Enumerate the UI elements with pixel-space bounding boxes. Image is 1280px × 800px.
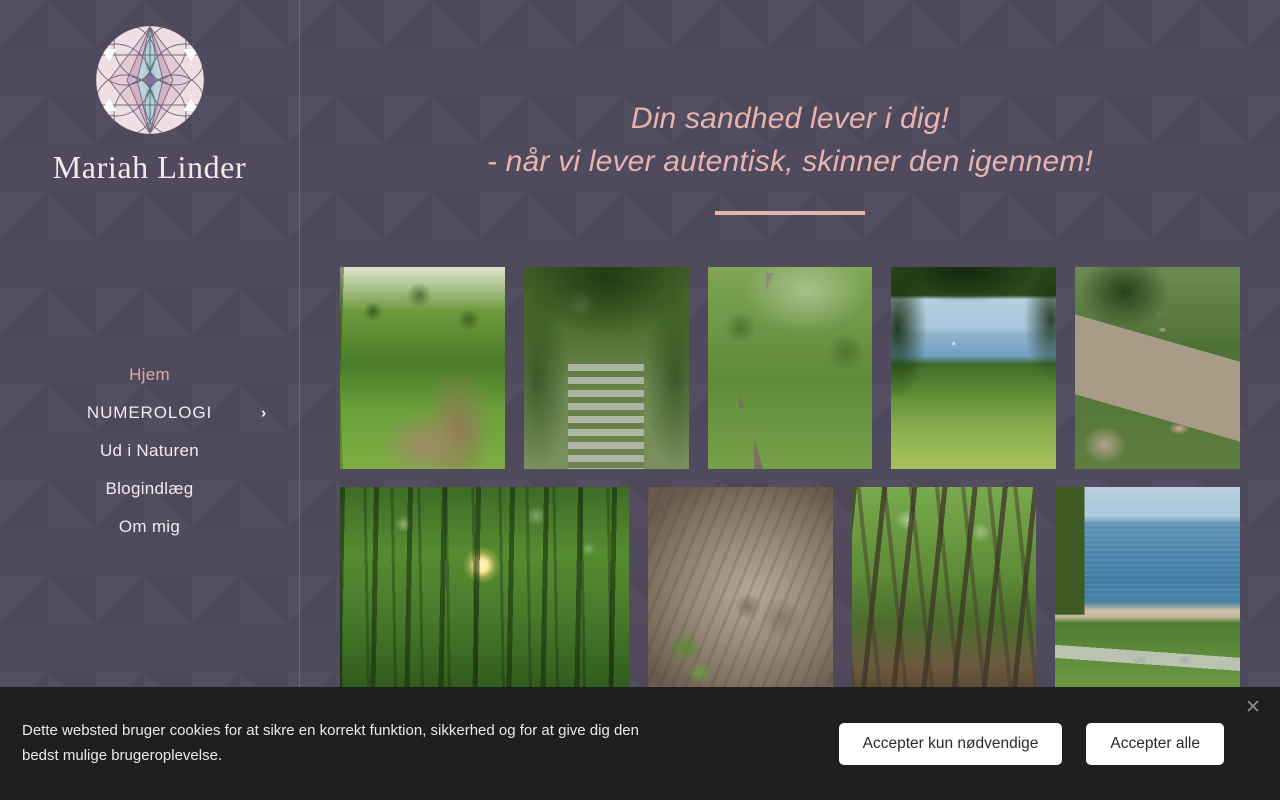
cookie-actions: Accepter kun nødvendige Accepter alle	[839, 723, 1260, 765]
cookie-consent-banner: Dette websted bruger cookies for at sikr…	[0, 687, 1280, 800]
gallery-photo-sunbeam[interactable]	[340, 487, 629, 693]
gallery-photo-stones-rail[interactable]	[1075, 267, 1240, 469]
photo-art	[891, 267, 1056, 469]
gallery-photo-coast[interactable]	[1055, 487, 1240, 693]
hero-headline-line2: - når vi lever autentisk, skinner den ig…	[300, 141, 1280, 184]
main-navigation: Hjem NUMEROLOGI › Ud i Naturen Blogindlæ…	[0, 356, 299, 546]
gallery-photo-stone-steps[interactable]	[524, 267, 689, 469]
accept-necessary-button[interactable]: Accepter kun nødvendige	[839, 723, 1063, 765]
sidebar: Mariah Linder Hjem NUMEROLOGI › Ud i Nat…	[0, 0, 300, 800]
sidebar-item-om-mig[interactable]: Om mig	[0, 508, 299, 546]
nav-label: NUMEROLOGI	[87, 403, 212, 422]
sidebar-item-hjem[interactable]: Hjem	[0, 356, 299, 394]
photo-gallery	[300, 267, 1280, 693]
photo-art	[524, 267, 689, 469]
main-content: Din sandhed lever i dig! - når vi lever …	[300, 0, 1280, 800]
photo-art	[340, 267, 505, 469]
hero-divider	[715, 211, 865, 215]
page-root: Mariah Linder Hjem NUMEROLOGI › Ud i Nat…	[0, 0, 1280, 800]
nav-label: Blogindlæg	[105, 479, 193, 498]
photo-art	[852, 487, 1037, 693]
gallery-row-2	[340, 487, 1240, 693]
accept-all-button[interactable]: Accepter alle	[1086, 723, 1224, 765]
photo-art	[648, 487, 833, 693]
cookie-consent-text: Dette websted bruger cookies for at sikr…	[22, 719, 642, 768]
nav-label: Om mig	[119, 517, 180, 536]
nav-label: Ud i Naturen	[100, 441, 199, 460]
photo-art	[1055, 487, 1240, 693]
hero-section: Din sandhed lever i dig! - når vi lever …	[300, 0, 1280, 215]
hero-headline-line1: Din sandhed lever i dig!	[300, 98, 1280, 141]
gallery-photo-big-tree[interactable]	[708, 267, 873, 469]
photo-art	[1075, 267, 1240, 469]
site-title: Mariah Linder	[53, 149, 247, 186]
sidebar-item-ud-i-naturen[interactable]: Ud i Naturen	[0, 432, 299, 470]
mandala-logo-icon[interactable]	[95, 25, 205, 135]
gallery-row-1	[340, 267, 1240, 469]
gallery-photo-sea-view[interactable]	[891, 267, 1056, 469]
gallery-photo-forest-path[interactable]	[340, 267, 505, 469]
nav-label: Hjem	[129, 365, 170, 384]
photo-art	[708, 267, 873, 469]
close-icon[interactable]: ✕	[1243, 698, 1263, 718]
photo-art	[340, 487, 629, 693]
gallery-photo-slope-forest[interactable]	[852, 487, 1037, 693]
sidebar-item-blogindlaeg[interactable]: Blogindlæg	[0, 470, 299, 508]
sidebar-item-numerologi[interactable]: NUMEROLOGI ›	[0, 394, 299, 432]
chevron-right-icon[interactable]: ›	[261, 406, 267, 421]
gallery-photo-bark[interactable]	[648, 487, 833, 693]
